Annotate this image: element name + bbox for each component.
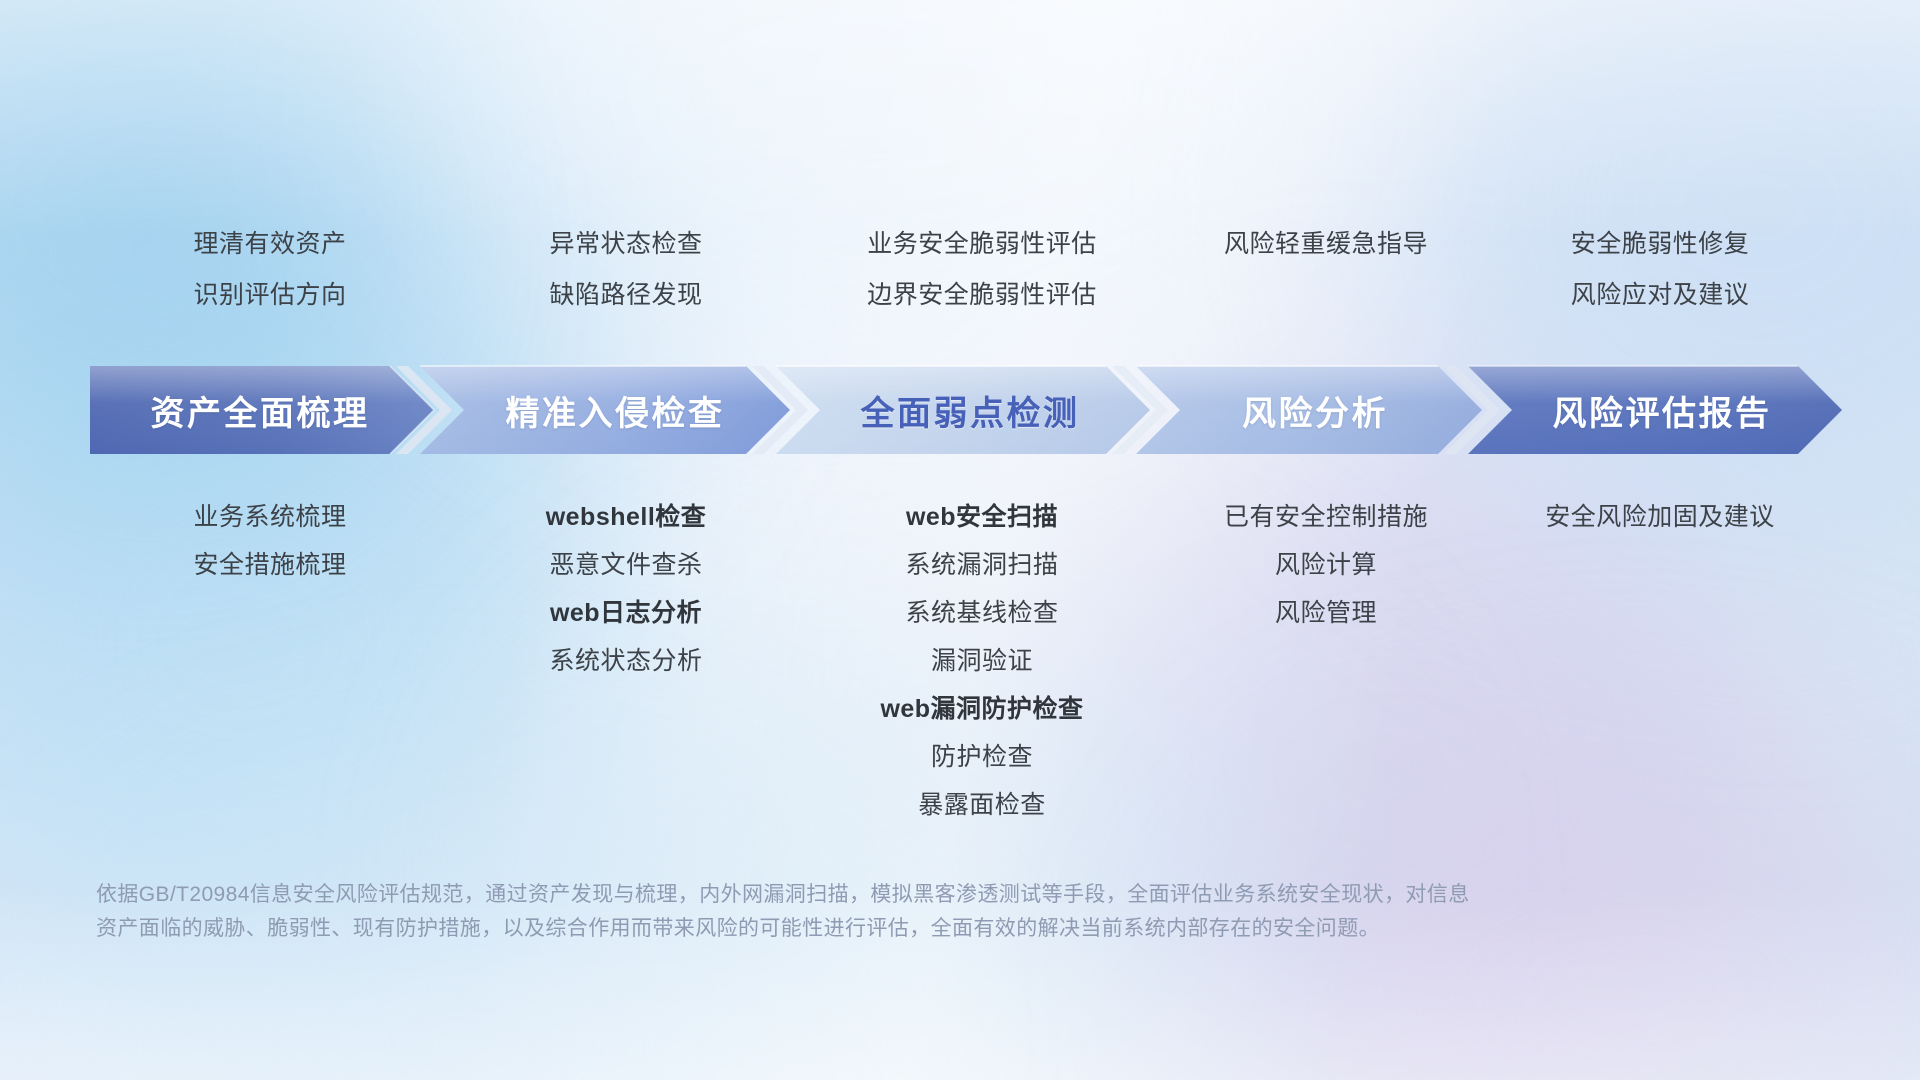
top-column-weakness-detection: 业务安全脆弱性评估 边界安全脆弱性评估 — [802, 232, 1162, 334]
list-item: 风险轻重缓急指导 — [1224, 232, 1428, 257]
chevron-label-asset-inventory[interactable]: 资产全面梳理 — [90, 366, 430, 454]
list-item: web安全扫描 — [906, 505, 1058, 530]
list-item: web漏洞防护检查 — [880, 697, 1083, 722]
list-item: 恶意文件查杀 — [549, 553, 702, 578]
list-item: 安全脆弱性修复 — [1571, 232, 1750, 257]
bottom-column-risk-analysis: 已有安全控制措施 风险计算 风险管理 — [1162, 505, 1490, 649]
slide-canvas: 理清有效资产 识别评估方向 异常状态检查 缺陷路径发现 业务安全脆弱性评估 边界… — [0, 0, 1920, 1080]
footer-line-1: 依据GB/T20984信息安全风险评估规范，通过资产发现与梳理，内外网漏洞扫描，… — [96, 878, 1636, 912]
bottom-column-risk-report: 安全风险加固及建议 — [1490, 505, 1830, 553]
list-item: 识别评估方向 — [193, 283, 346, 308]
list-item: 理清有效资产 — [193, 232, 346, 257]
list-item: web日志分析 — [550, 601, 702, 626]
chevron-label-intrusion-check[interactable]: 精准入侵检查 — [440, 366, 790, 454]
top-items-row: 理清有效资产 识别评估方向 异常状态检查 缺陷路径发现 业务安全脆弱性评估 边界… — [90, 232, 1830, 334]
bottom-column-intrusion-check: webshell检查 恶意文件查杀 web日志分析 系统状态分析 — [450, 505, 802, 697]
list-item: 系统基线检查 — [905, 601, 1058, 626]
top-column-asset-inventory: 理清有效资产 识别评估方向 — [90, 232, 450, 334]
chevron-label-risk-report[interactable]: 风险评估报告 — [1482, 366, 1842, 454]
footer-description: 依据GB/T20984信息安全风险评估规范，通过资产发现与梳理，内外网漏洞扫描，… — [96, 878, 1636, 946]
bottom-column-weakness-detection: web安全扫描 系统漏洞扫描 系统基线检查 漏洞验证 web漏洞防护检查 防护检… — [802, 505, 1162, 841]
list-item: 安全措施梳理 — [193, 553, 346, 578]
top-column-intrusion-check: 异常状态检查 缺陷路径发现 — [450, 232, 802, 334]
footer-line-2: 资产面临的威胁、脆弱性、现有防护措施，以及综合作用而带来风险的可能性进行评估，全… — [96, 912, 1636, 946]
list-item: 漏洞验证 — [931, 649, 1033, 674]
list-item: 防护检查 — [931, 745, 1033, 770]
list-item: 风险管理 — [1275, 601, 1377, 626]
list-item: 风险计算 — [1275, 553, 1377, 578]
list-item: 异常状态检查 — [549, 232, 702, 257]
chevron-label-weakness-detection[interactable]: 全面弱点检测 — [790, 366, 1150, 454]
list-item: webshell检查 — [546, 505, 707, 530]
list-item: 安全风险加固及建议 — [1545, 505, 1775, 530]
process-chevron-band: 资产全面梳理 精准入侵检查 全面弱点检测 风险分析 风险评估报告 — [90, 366, 1842, 454]
bottom-column-asset-inventory: 业务系统梳理 安全措施梳理 — [90, 505, 450, 601]
chevron-label-risk-analysis[interactable]: 风险分析 — [1150, 366, 1480, 454]
top-column-risk-analysis: 风险轻重缓急指导 — [1162, 232, 1490, 283]
list-item: 风险应对及建议 — [1571, 283, 1750, 308]
list-item: 系统漏洞扫描 — [905, 553, 1058, 578]
list-item: 业务系统梳理 — [193, 505, 346, 530]
list-item: 系统状态分析 — [549, 649, 702, 674]
list-item: 已有安全控制措施 — [1224, 505, 1428, 530]
top-column-risk-report: 安全脆弱性修复 风险应对及建议 — [1490, 232, 1830, 334]
list-item: 业务安全脆弱性评估 — [867, 232, 1097, 257]
list-item: 缺陷路径发现 — [549, 283, 702, 308]
bottom-items-row: 业务系统梳理 安全措施梳理 webshell检查 恶意文件查杀 web日志分析 … — [90, 505, 1830, 841]
list-item: 边界安全脆弱性评估 — [867, 283, 1097, 308]
list-item: 暴露面检查 — [918, 793, 1046, 818]
